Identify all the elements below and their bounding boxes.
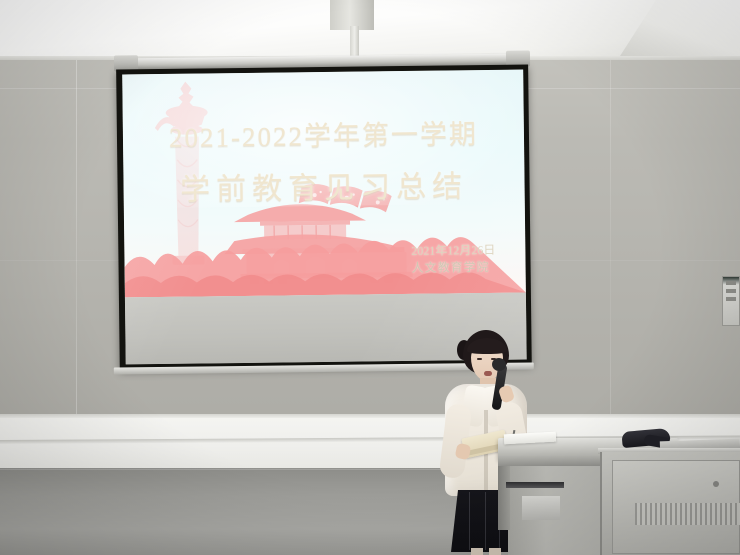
screen-frame: 2021-2022学年第一学期 学前教育见习总结 2021年12月26日 人文教… bbox=[116, 64, 532, 369]
leg-left bbox=[471, 548, 483, 555]
eye-left bbox=[477, 358, 482, 360]
ceiling-soffit bbox=[620, 0, 740, 56]
slide-organization: 人文教育学院 bbox=[411, 259, 495, 277]
wall-seam bbox=[76, 60, 77, 432]
photo-scene: 2021-2022学年第一学期 学前教育见习总结 2021年12月26日 人文教… bbox=[0, 0, 740, 555]
slide-meta: 2021年12月26日 人文教育学院 bbox=[411, 242, 495, 278]
slide-title-line1: 2021-2022学年第一学期 bbox=[123, 112, 524, 156]
cabinet-lock[interactable] bbox=[713, 481, 719, 487]
skirt-pleat bbox=[485, 492, 486, 550]
slide-title-line2: 学前教育见习总结 bbox=[123, 161, 525, 210]
cabinet-door[interactable] bbox=[612, 460, 740, 554]
cabinet-vent bbox=[635, 503, 740, 525]
mouth bbox=[484, 371, 492, 376]
lectern-keyboard-tray[interactable] bbox=[506, 482, 564, 488]
equipment-cabinet[interactable] bbox=[600, 452, 740, 555]
switch-rocker[interactable] bbox=[726, 289, 736, 293]
lectern-shelf bbox=[522, 496, 560, 520]
ceiling bbox=[0, 0, 740, 62]
switch-rocker[interactable] bbox=[726, 281, 736, 285]
slide-date: 2021年12月26日 bbox=[411, 242, 495, 260]
wall-switch-panel[interactable] bbox=[722, 276, 740, 326]
skirt-pleat bbox=[469, 492, 470, 550]
screen-surface: 2021-2022学年第一学期 学前教育见习总结 2021年12月26日 人文教… bbox=[122, 70, 527, 365]
wall-seam bbox=[610, 60, 611, 432]
projected-slide: 2021-2022学年第一学期 学前教育见习总结 2021年12月26日 人文教… bbox=[122, 70, 526, 298]
switch-rocker[interactable] bbox=[726, 297, 736, 301]
